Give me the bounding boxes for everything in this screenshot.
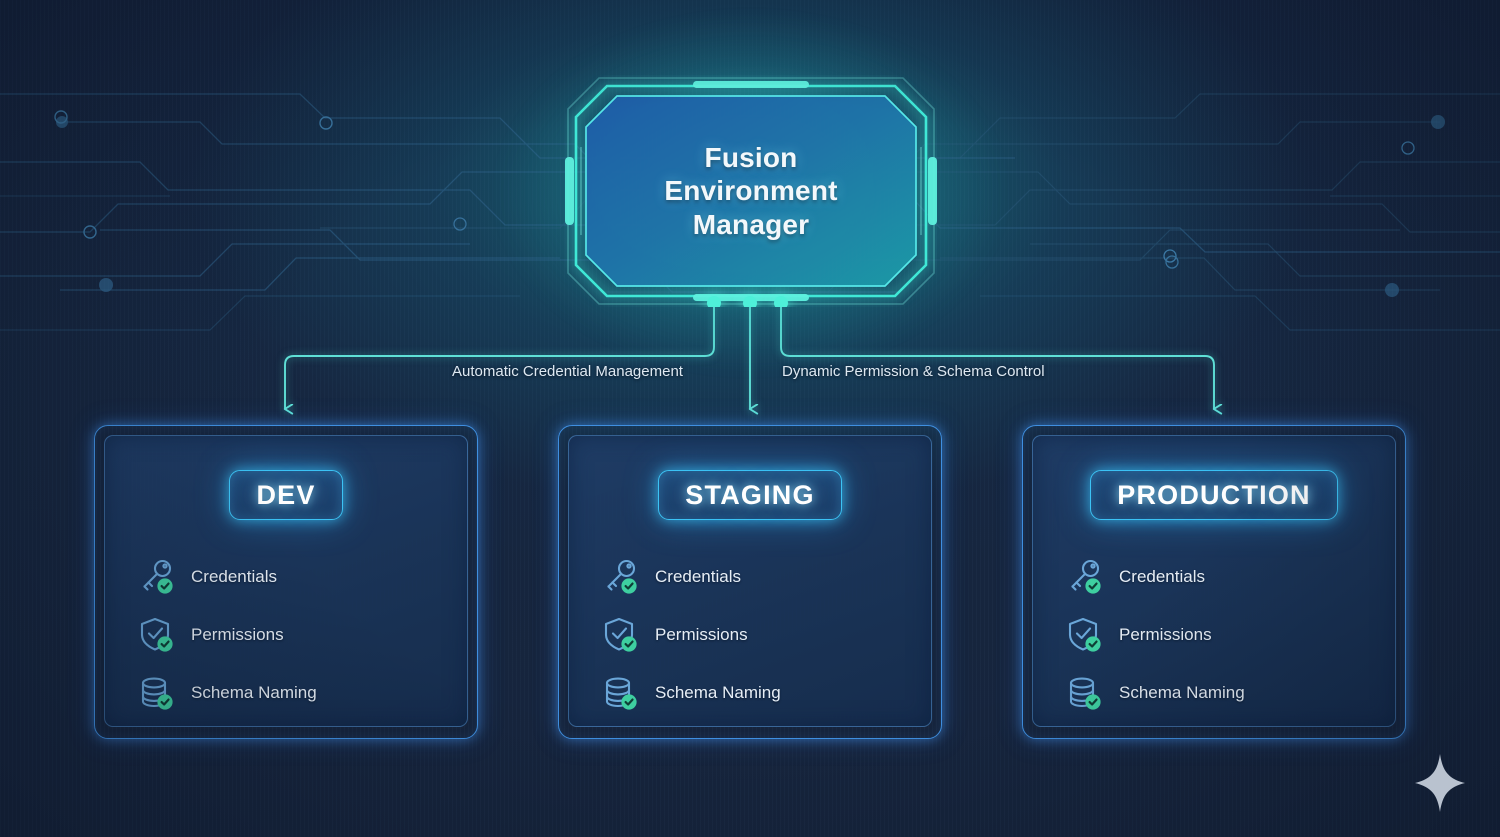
diagram-canvas: Automatic Credential Management Dynamic … xyxy=(0,0,1500,837)
sparkle-icon xyxy=(1412,752,1468,814)
vignette-overlay xyxy=(0,0,1500,837)
